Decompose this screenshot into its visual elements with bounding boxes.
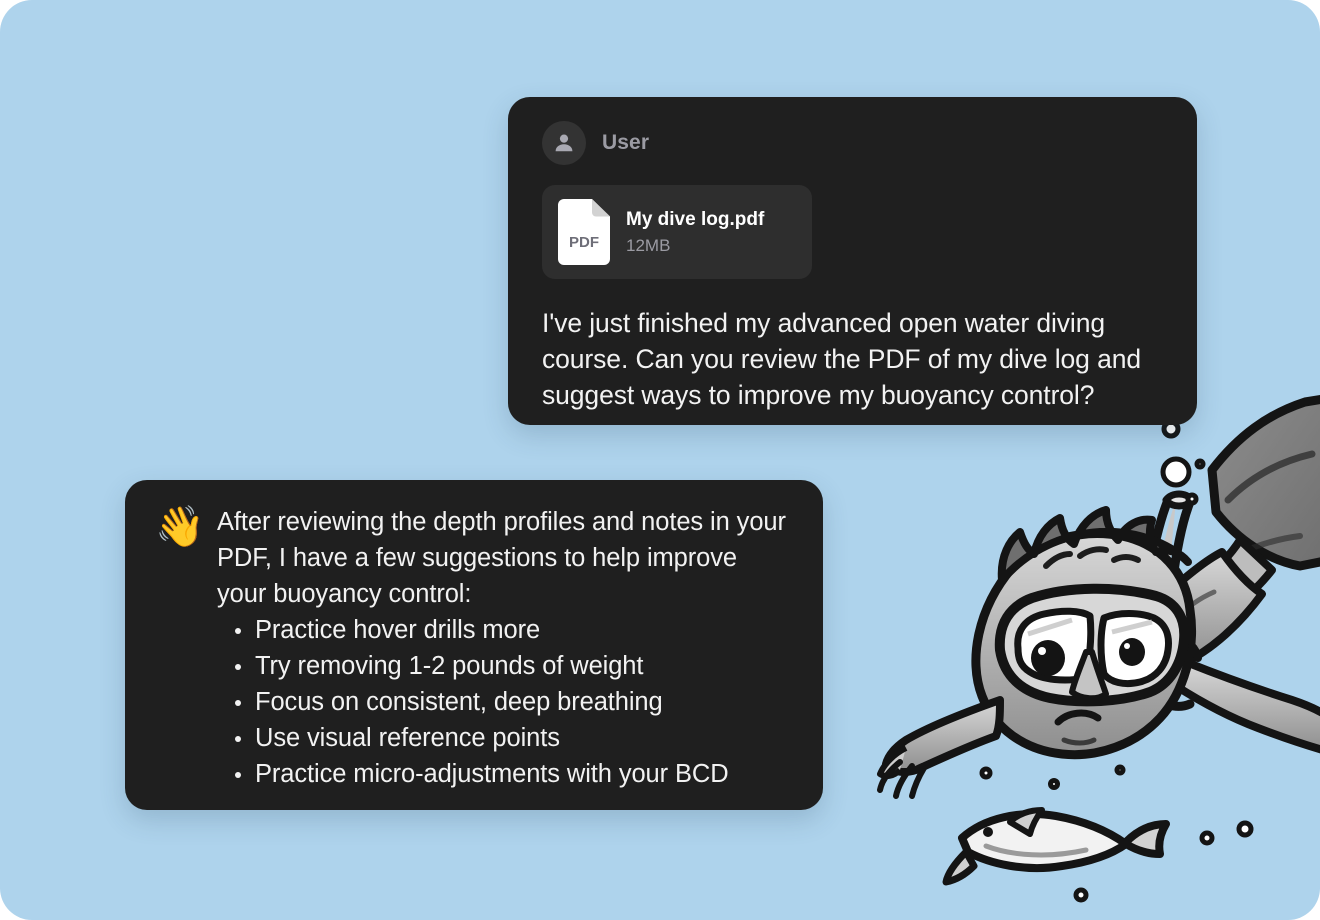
user-message-text: I've just finished my advanced open wate… [542, 305, 1163, 413]
attachment-size: 12MB [626, 236, 764, 256]
chat-thread: User PDF My dive log.pdf 12MB I've just … [0, 0, 1320, 920]
attachment-card[interactable]: PDF My dive log.pdf 12MB [542, 185, 812, 279]
user-message-bubble: User PDF My dive log.pdf 12MB I've just … [508, 97, 1197, 425]
page-canvas: User PDF My dive log.pdf 12MB I've just … [0, 0, 1320, 920]
assistant-intro-text: After reviewing the depth profiles and n… [217, 504, 793, 612]
list-item: Try removing 1-2 pounds of weight [255, 648, 793, 684]
assistant-message-body: After reviewing the depth profiles and n… [217, 504, 793, 786]
user-sender-label: User [602, 131, 649, 155]
list-item: Practice micro-adjustments with your BCD [255, 756, 793, 792]
attachment-meta: My dive log.pdf 12MB [626, 209, 764, 256]
assistant-message-bubble: 👋 After reviewing the depth profiles and… [125, 480, 823, 810]
list-item: Focus on consistent, deep breathing [255, 684, 793, 720]
svg-text:PDF: PDF [569, 234, 599, 251]
person-icon [552, 131, 576, 155]
suggestion-list: Practice hover drills more Try removing … [217, 612, 793, 792]
pdf-file-icon: PDF [558, 199, 610, 265]
attachment-name: My dive log.pdf [626, 209, 764, 231]
user-message-header: User [542, 119, 1163, 167]
list-item: Use visual reference points [255, 720, 793, 756]
waving-hand-emoji: 👋 [153, 504, 207, 786]
avatar [542, 121, 586, 165]
list-item: Practice hover drills more [255, 612, 793, 648]
